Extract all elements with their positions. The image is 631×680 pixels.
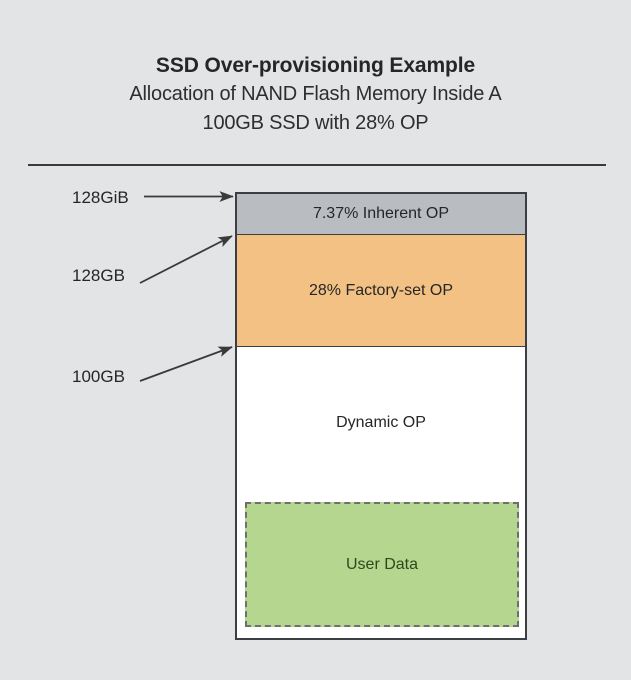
segment-inherent-op-label: 7.37% Inherent OP — [313, 205, 449, 223]
header-divider — [28, 164, 606, 166]
diagram-page: SSD Over-provisioning Example Allocation… — [0, 0, 631, 680]
segment-user-data: User Data — [245, 502, 519, 627]
header: SSD Over-provisioning Example Allocation… — [0, 52, 631, 138]
page-title: SSD Over-provisioning Example — [0, 52, 631, 80]
callout-label-128gb: 128GB — [72, 266, 125, 286]
segment-user-data-label: User Data — [346, 556, 418, 574]
segment-factory-set-op: 28% Factory-set OP — [237, 235, 525, 347]
page-subtitle-line1: Allocation of NAND Flash Memory Inside A — [0, 80, 631, 109]
page-subtitle-line2: 100GB SSD with 28% OP — [0, 109, 631, 138]
callout-label-100gb: 100GB — [72, 367, 125, 387]
callout-label-128gib: 128GiB — [72, 188, 129, 208]
arrow-100gb — [140, 347, 232, 381]
segment-dynamic-op-label: Dynamic OP — [237, 414, 525, 432]
segment-inherent-op: 7.37% Inherent OP — [237, 194, 525, 235]
arrow-128gb — [140, 236, 232, 283]
segment-factory-set-op-label: 28% Factory-set OP — [309, 282, 453, 300]
